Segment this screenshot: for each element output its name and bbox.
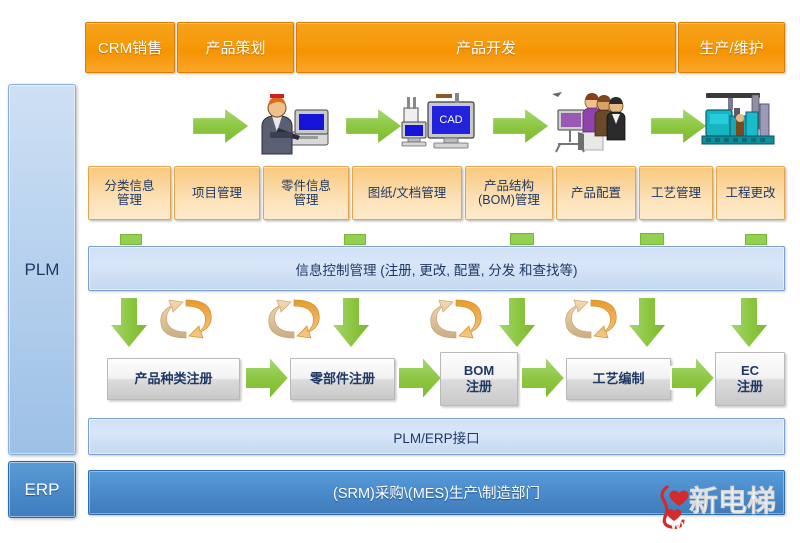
module-label: 产品配置 bbox=[571, 186, 621, 200]
sidebar-panel-erp[interactable]: ERP bbox=[8, 461, 76, 518]
down-arrow-2 bbox=[330, 297, 372, 349]
watermark: 新电梯 www.xindianti.cn bbox=[655, 477, 795, 537]
cycle-arrows-icon-1 bbox=[155, 296, 217, 344]
cad-workstation-icon: CAD bbox=[400, 92, 482, 156]
watermark-url-text: www.xindianti.cn bbox=[670, 518, 779, 532]
registration-label: EC注册 bbox=[737, 363, 763, 394]
sidebar-panel-plm[interactable]: PLM bbox=[8, 84, 76, 455]
phase-crm-sales[interactable]: CRM销售 bbox=[85, 22, 175, 73]
plm-erp-interface-bar[interactable]: PLM/ERP接口 bbox=[88, 418, 785, 455]
information-control-label: 信息控制管理 (注册, 更改, 配置, 分发 和查找等) bbox=[296, 259, 578, 279]
phase-production-maintenance[interactable]: 生产/维护 bbox=[678, 22, 785, 73]
phase-label: CRM销售 bbox=[98, 37, 162, 58]
erp-label: ERP bbox=[25, 480, 60, 500]
registration-arrow-2 bbox=[396, 352, 444, 404]
connector-stub-5 bbox=[745, 234, 767, 245]
down-arrow-5 bbox=[728, 297, 770, 349]
connector-stub-3 bbox=[510, 233, 534, 245]
module-label: 项目管理 bbox=[192, 186, 242, 200]
module-label: 工程更改 bbox=[725, 186, 775, 200]
module-project-management[interactable]: 项目管理 bbox=[174, 166, 260, 220]
flow-arrow-right-2 bbox=[343, 104, 405, 148]
registration-bom[interactable]: BOM注册 bbox=[440, 352, 518, 406]
flow-arrow-right-3 bbox=[490, 104, 552, 148]
cycle-arrows-icon-2 bbox=[263, 296, 325, 344]
registration-label: 工艺编制 bbox=[592, 371, 644, 387]
connector-stub-2 bbox=[344, 234, 366, 245]
erp-department-label: (SRM)采购\(MES)生产\制造部门 bbox=[333, 482, 540, 503]
connector-stub-4 bbox=[640, 233, 664, 245]
down-arrow-4 bbox=[626, 297, 668, 349]
module-classification-info[interactable]: 分类信息管理 bbox=[88, 166, 171, 220]
registration-arrow-1 bbox=[243, 352, 291, 404]
module-label: 零件信息管理 bbox=[281, 179, 331, 208]
plm-erp-interface-label: PLM/ERP接口 bbox=[393, 427, 479, 447]
registration-process-planning[interactable]: 工艺编制 bbox=[566, 358, 671, 400]
registration-ec[interactable]: EC注册 bbox=[715, 352, 785, 406]
down-arrow-3 bbox=[496, 297, 538, 349]
cycle-arrows-icon-4 bbox=[560, 296, 622, 344]
registration-part[interactable]: 零部件注册 bbox=[290, 358, 395, 400]
registration-arrow-4 bbox=[669, 352, 717, 404]
module-drawing-document[interactable]: 图纸/文档管理 bbox=[352, 166, 462, 220]
team-meeting-icon bbox=[548, 88, 628, 156]
registration-label: 产品种类注册 bbox=[134, 371, 212, 387]
module-label: 分类信息管理 bbox=[104, 179, 154, 208]
phase-label: 产品开发 bbox=[456, 37, 516, 58]
module-process-management[interactable]: 工艺管理 bbox=[639, 166, 713, 220]
flow-arrow-right-1 bbox=[190, 104, 252, 148]
sales-person-computer-icon bbox=[248, 92, 332, 156]
module-engineering-change[interactable]: 工程更改 bbox=[716, 166, 785, 220]
down-arrow-1 bbox=[108, 297, 150, 349]
information-control-bar[interactable]: 信息控制管理 (注册, 更改, 配置, 分发 和查找等) bbox=[88, 246, 785, 291]
connector-stub-1 bbox=[120, 234, 142, 245]
phase-label: 产品策划 bbox=[205, 37, 265, 58]
cad-screen-label: CAD bbox=[439, 114, 462, 126]
module-part-info[interactable]: 零件信息管理 bbox=[263, 166, 349, 220]
module-label: 产品结构(BOM)管理 bbox=[478, 179, 540, 208]
registration-product-category[interactable]: 产品种类注册 bbox=[107, 358, 240, 400]
phase-product-development[interactable]: 产品开发 bbox=[296, 22, 676, 73]
phase-product-planning[interactable]: 产品策划 bbox=[177, 22, 294, 73]
plm-label: PLM bbox=[25, 260, 60, 280]
watermark-brand-text: 新电梯 bbox=[689, 485, 776, 518]
cycle-arrows-icon-3 bbox=[425, 296, 487, 344]
registration-arrow-3 bbox=[519, 352, 567, 404]
module-label: 图纸/文档管理 bbox=[368, 186, 446, 200]
diagram-canvas: CRM销售 产品策划 产品开发 生产/维护 PLM ERP bbox=[0, 0, 800, 543]
factory-machine-icon bbox=[700, 90, 780, 152]
module-product-configuration[interactable]: 产品配置 bbox=[556, 166, 636, 220]
registration-label: 零部件注册 bbox=[310, 371, 375, 387]
module-product-structure-bom[interactable]: 产品结构(BOM)管理 bbox=[465, 166, 553, 220]
module-label: 工艺管理 bbox=[651, 186, 701, 200]
phase-label: 生产/维护 bbox=[699, 37, 763, 58]
registration-label: BOM注册 bbox=[464, 363, 494, 394]
